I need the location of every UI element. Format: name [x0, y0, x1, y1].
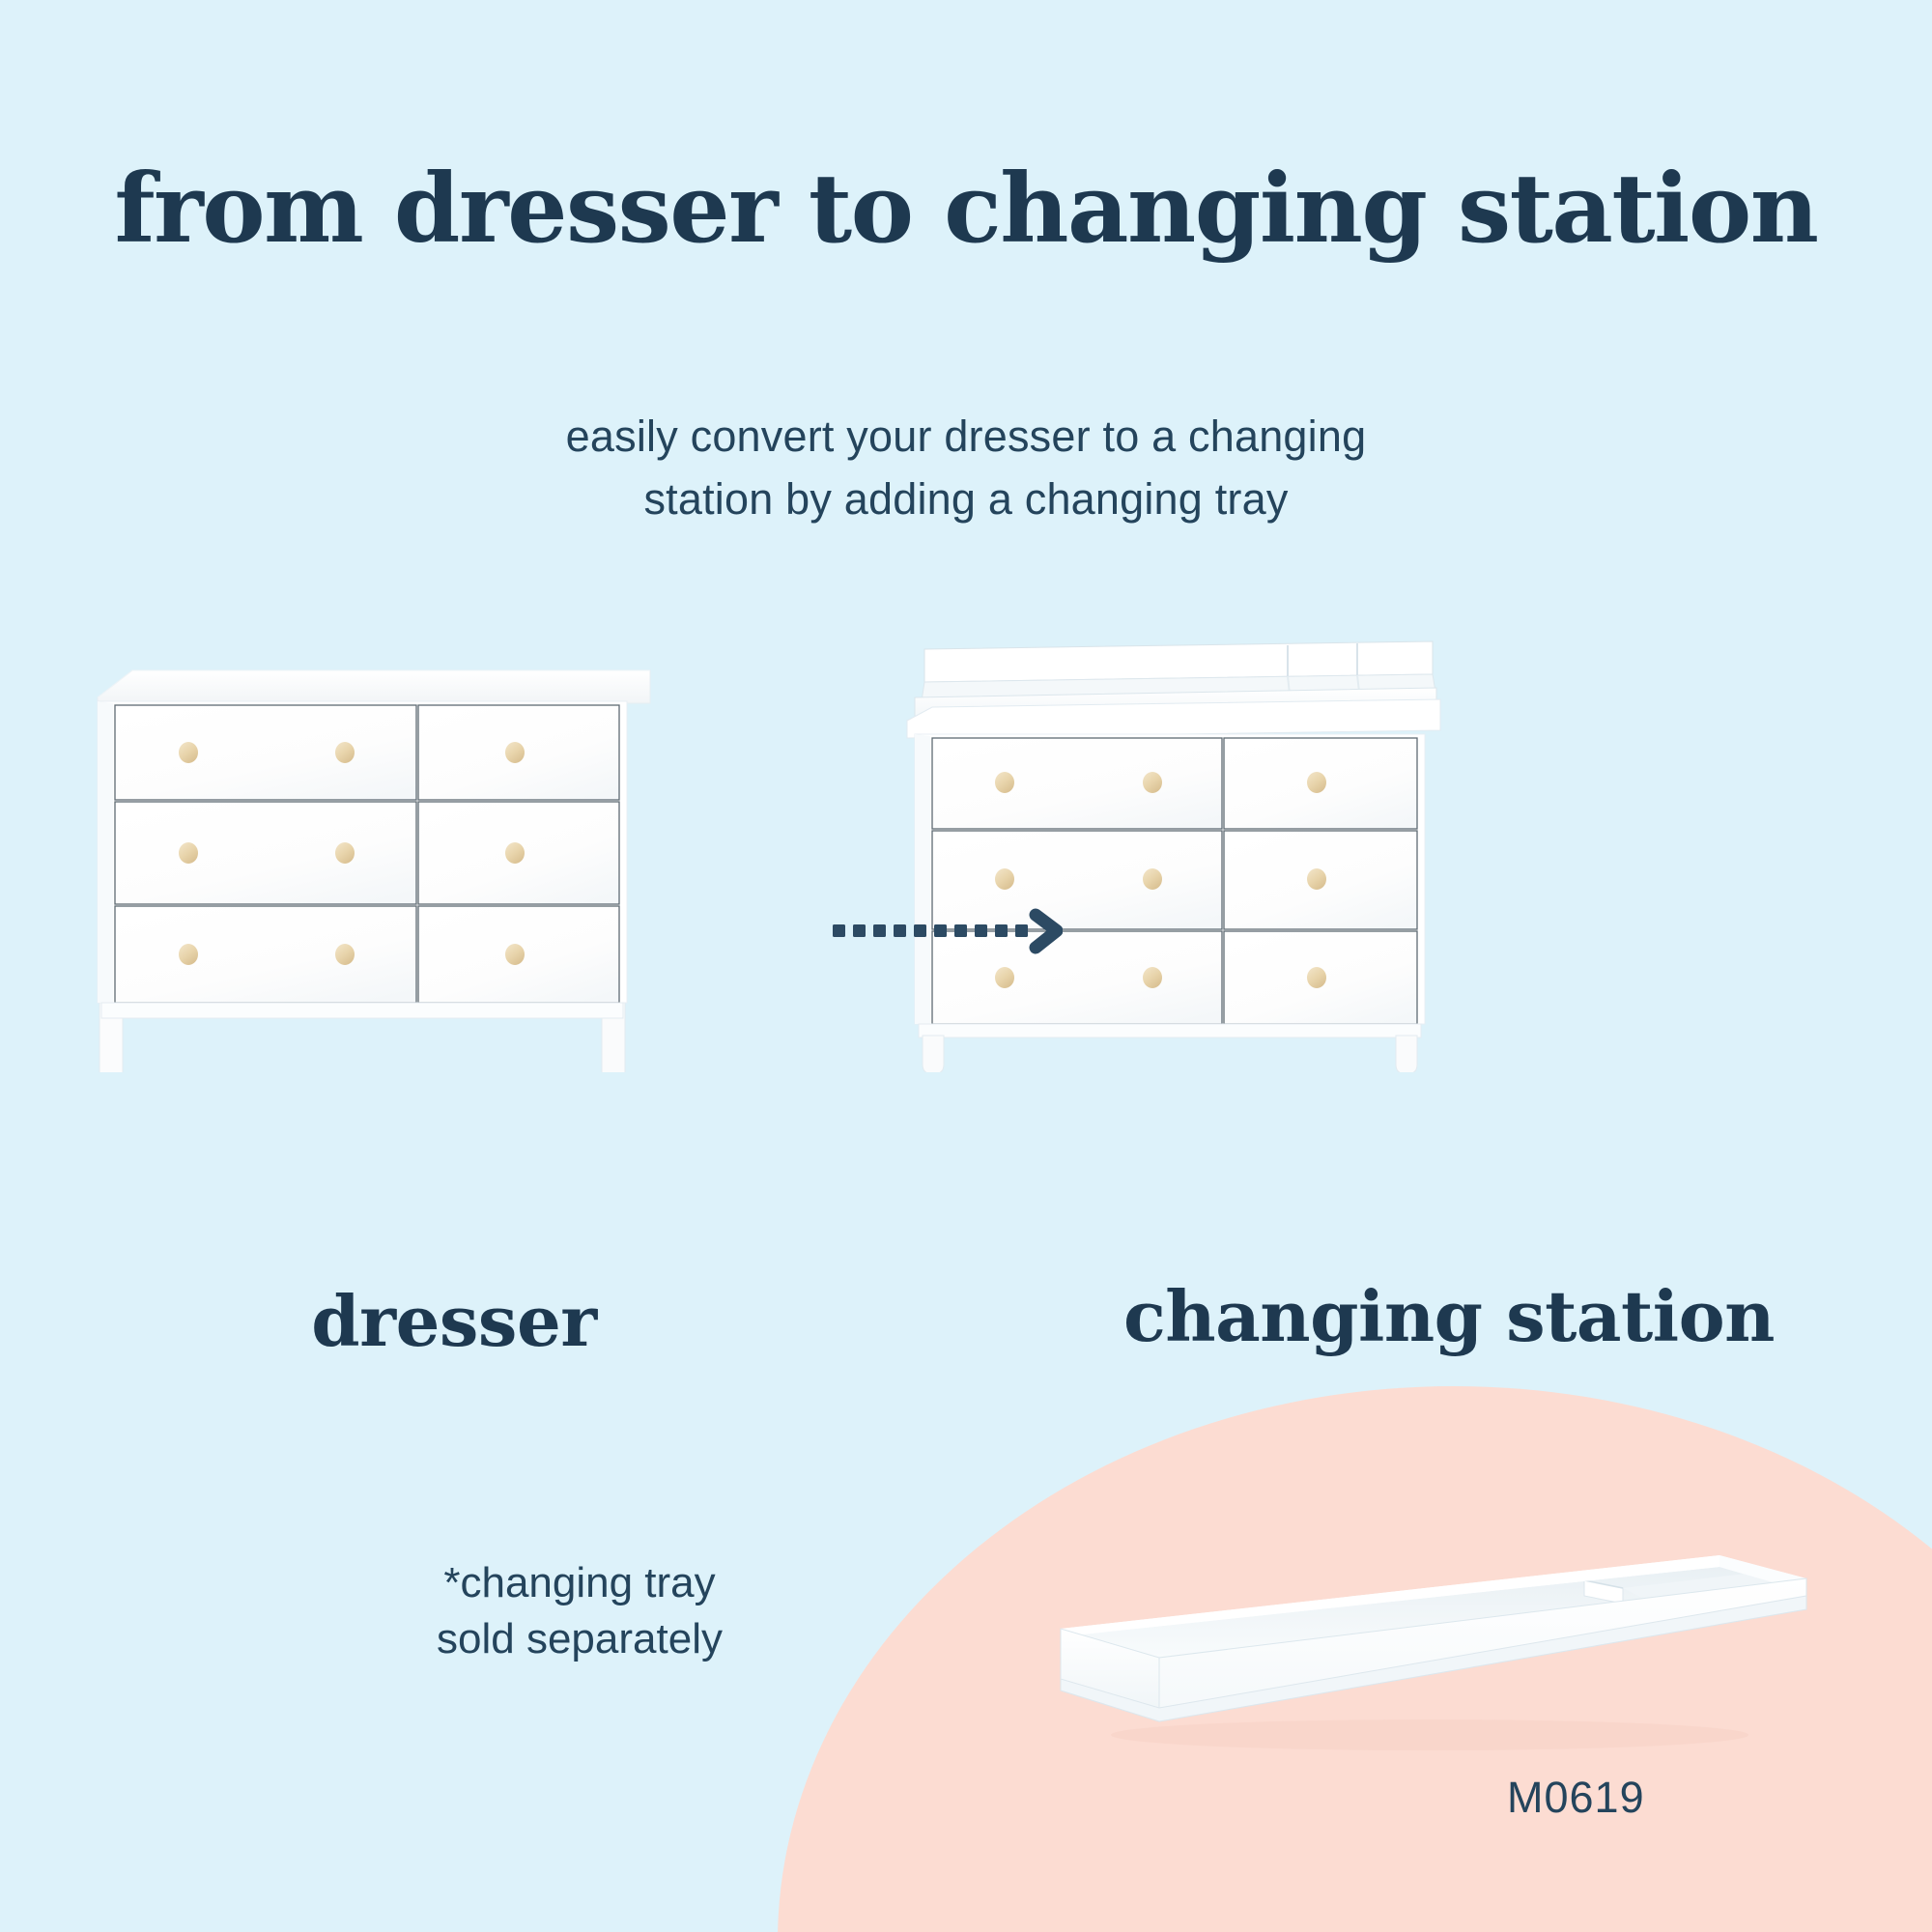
footnote: *changing tray sold separately — [290, 1555, 869, 1667]
page-subtitle: easily convert your dresser to a changin… — [0, 406, 1932, 531]
footnote-line-2: sold separately — [290, 1611, 869, 1667]
changing-tray-illustration — [1043, 1546, 1816, 1802]
subtitle-line-2: station by adding a changing tray — [0, 469, 1932, 531]
changing-station-illustration — [903, 638, 1444, 1077]
dotted-arrow-right — [831, 903, 1063, 966]
poster-canvas: from dresser to changing station easily … — [0, 0, 1932, 1932]
caption-changing-station: changing station — [966, 1275, 1932, 1357]
dresser-illustration — [92, 657, 652, 1077]
page-title: from dresser to changing station — [0, 162, 1932, 257]
subtitle-line-1: easily convert your dresser to a changin… — [0, 406, 1932, 469]
caption-dresser: dresser — [0, 1280, 908, 1362]
footnote-line-1: *changing tray — [290, 1555, 869, 1611]
sku-label: M0619 — [1507, 1773, 1645, 1823]
